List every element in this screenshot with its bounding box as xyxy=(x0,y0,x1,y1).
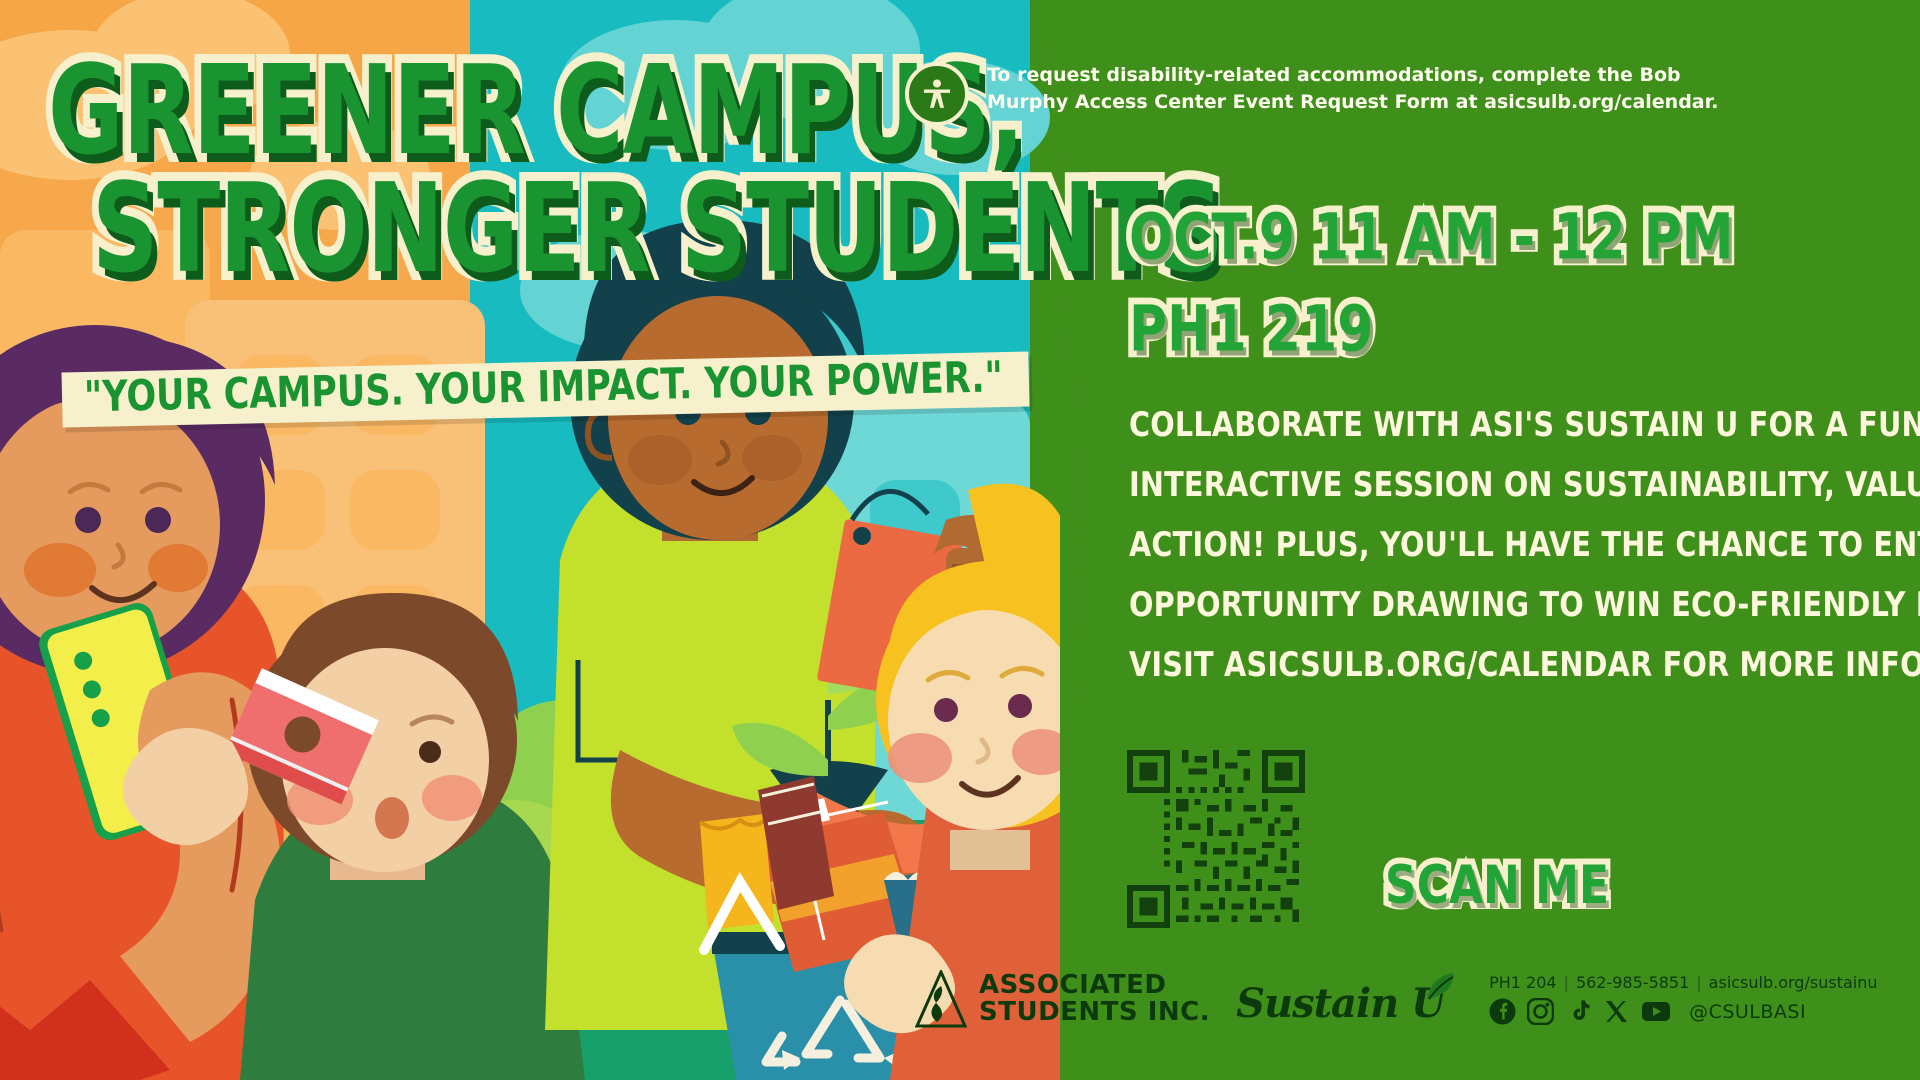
tiktok-icon[interactable] xyxy=(1565,998,1592,1025)
asi-monogram-icon xyxy=(915,970,967,1028)
footer: ASSOCIATED STUDENTS INC. Sustain U PH1 2… xyxy=(915,970,1920,1028)
event-flyer: GREENER CAMPUS, STRONGER STUDENTS "YOUR … xyxy=(0,0,1920,1080)
asi-line-1: ASSOCIATED xyxy=(979,972,1210,999)
description-line: ACTION! PLUS, YOU'LL HAVE THE CHANCE TO … xyxy=(1129,528,1881,562)
headline: GREENER CAMPUS, STRONGER STUDENTS xyxy=(48,52,1048,288)
headline-line-2: STRONGER STUDENTS xyxy=(92,170,1010,288)
contact-line: PH1 204 | 562-985-5851 | asicsulb.org/su… xyxy=(1489,973,1877,992)
separator: | xyxy=(1696,973,1701,992)
website-url[interactable]: asicsulb.org/sustainu xyxy=(1709,973,1878,992)
social-handle: @CSULBASI xyxy=(1689,1001,1806,1023)
event-location: PH1 219 xyxy=(1129,298,1734,361)
qr-code-icon[interactable] xyxy=(1127,750,1305,928)
description-line: VISIT ASICSULB.ORG/CALENDAR FOR MORE INF… xyxy=(1129,648,1881,682)
scan-me-label: SCAN ME xyxy=(1385,855,1609,916)
facebook-icon[interactable] xyxy=(1489,998,1516,1025)
event-description: COLLABORATE WITH ASI'S SUSTAIN U FOR A F… xyxy=(1129,408,1889,708)
contact-info: PH1 204 | 562-985-5851 | asicsulb.org/su… xyxy=(1489,973,1877,1025)
phone-number[interactable]: 562-985-5851 xyxy=(1576,973,1689,992)
qr-code-block[interactable] xyxy=(1127,750,1305,928)
leaf-icon xyxy=(1423,971,1457,1005)
accessibility-icon xyxy=(905,62,969,126)
event-details: OCT.9 11 AM - 12 PM PH1 219 xyxy=(1129,206,1734,390)
event-date-time: OCT.9 11 AM - 12 PM xyxy=(1129,206,1734,269)
accessibility-person-icon xyxy=(920,77,954,111)
student-with-phone xyxy=(0,325,290,1080)
social-links: @CSULBASI xyxy=(1489,998,1877,1025)
sustain-u-logo: Sustain U xyxy=(1236,971,1457,1027)
headline-line-1: GREENER CAMPUS, xyxy=(48,52,1008,170)
description-line: OPPORTUNITY DRAWING TO WIN ECO-FRIENDLY … xyxy=(1129,588,1881,622)
asi-wordmark: ASSOCIATED STUDENTS INC. xyxy=(979,972,1210,1025)
instagram-icon[interactable] xyxy=(1527,998,1554,1025)
x-icon[interactable] xyxy=(1603,998,1630,1025)
description-line: COLLABORATE WITH ASI'S SUSTAIN U FOR A F… xyxy=(1129,408,1881,442)
youtube-icon[interactable] xyxy=(1641,998,1671,1025)
info-column: To request disability-related accommodat… xyxy=(1085,0,1920,1080)
accessibility-text: To request disability-related accommodat… xyxy=(987,62,1747,116)
room-number: PH1 204 xyxy=(1489,973,1556,992)
asi-logo: ASSOCIATED STUDENTS INC. xyxy=(915,970,1210,1028)
separator: | xyxy=(1564,973,1569,992)
asi-line-2: STUDENTS INC. xyxy=(979,999,1210,1026)
sustain-u-wordmark: Sustain U xyxy=(1236,980,1445,1027)
accessibility-notice: To request disability-related accommodat… xyxy=(905,62,1905,126)
description-line: INTERACTIVE SESSION ON SUSTAINABILITY, V… xyxy=(1129,468,1881,502)
